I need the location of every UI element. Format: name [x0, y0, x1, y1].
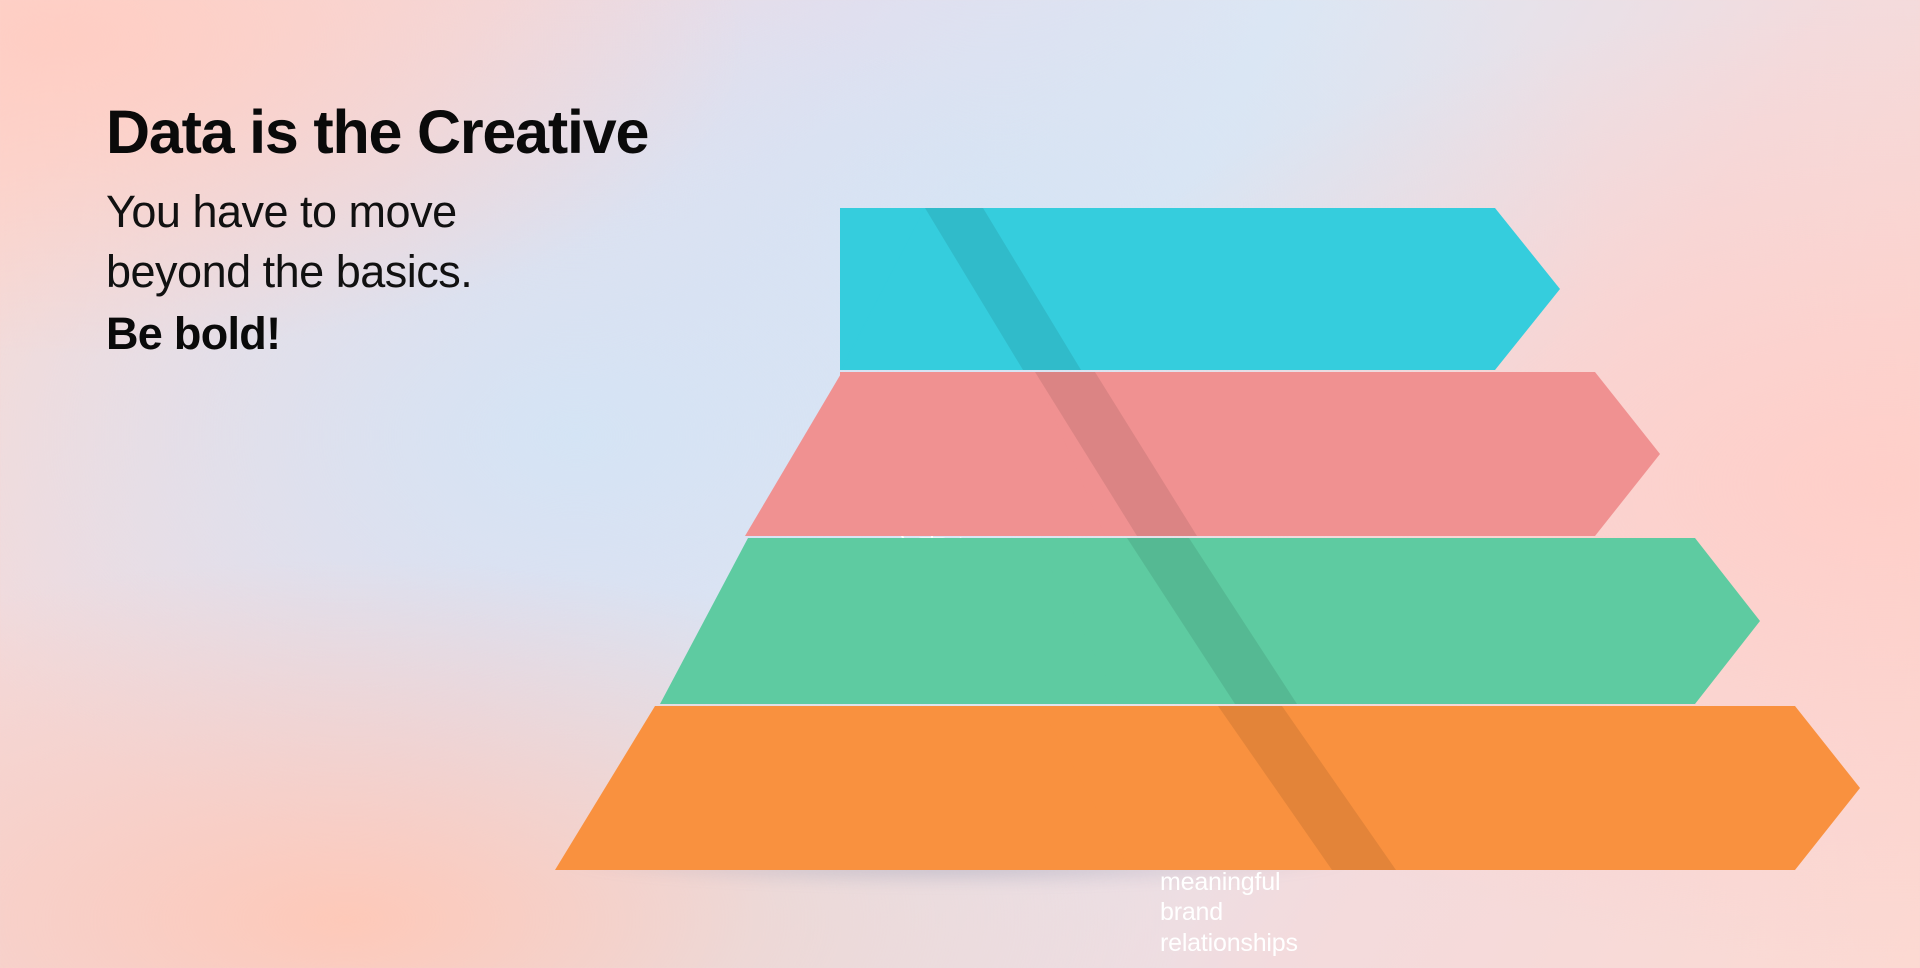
tier-triangle-apex-left [750, 208, 930, 370]
pyramid-diagram: SELF-ACTUALIZATION Use my data to make m… [0, 0, 1920, 968]
tier-triangle-community [655, 372, 1105, 536]
tier-desc-line-2: meaningful brand relationships [1160, 867, 1318, 959]
tier-triangle-experience [560, 538, 1120, 704]
tier-triangle-transactional [470, 706, 1130, 870]
